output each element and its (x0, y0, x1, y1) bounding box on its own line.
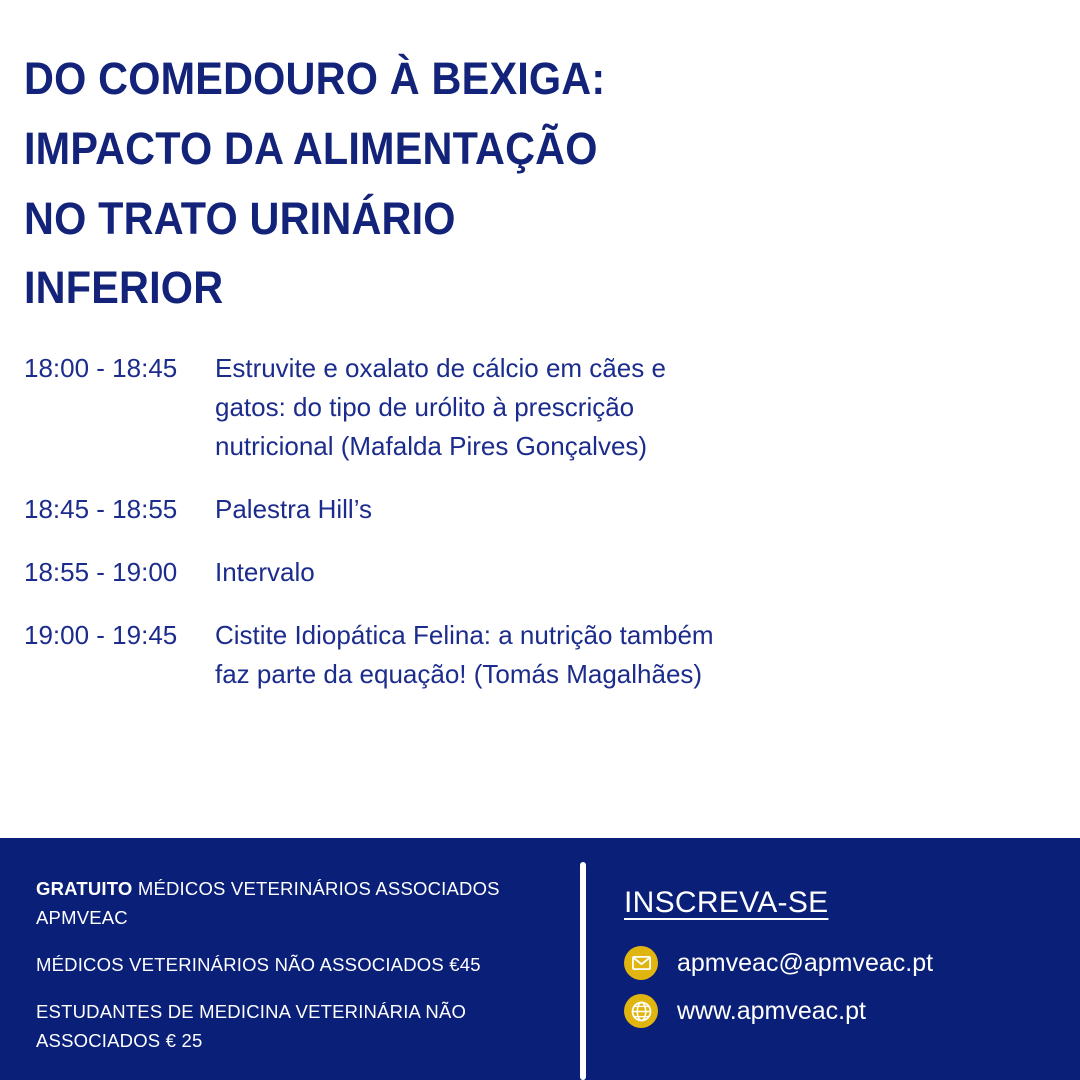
email-address[interactable]: apmveac@apmveac.pt (677, 948, 933, 978)
event-poster: DO COMEDOURO À BEXIGA: IMPACTO DA ALIMEN… (0, 0, 1080, 1080)
schedule-time: 18:55 - 19:00 (24, 553, 215, 592)
pricing-item-nonmember: MÉDICOS VETERINÁRIOS NÃO ASSOCIADOS €45 (36, 950, 523, 979)
schedule-time: 18:45 - 18:55 (24, 490, 215, 529)
schedule-time: 19:00 - 19:45 (24, 616, 215, 655)
signup-heading: INSCREVA-SE (624, 886, 828, 920)
schedule-description: Cistite Idiopática Felina: a nutrição ta… (215, 616, 715, 694)
pricing-item-student: ESTUDANTES DE MEDICINA VETERINÁRIA NÃO A… (36, 997, 523, 1055)
schedule-time: 18:00 - 18:45 (24, 349, 215, 388)
page-title: DO COMEDOURO À BEXIGA: IMPACTO DA ALIMEN… (0, 0, 1080, 323)
schedule-row: 19:00 - 19:45 Cistite Idiopática Felina:… (24, 616, 1080, 694)
pricing-text: MÉDICOS VETERINÁRIOS NÃO ASSOCIADOS €45 (36, 954, 481, 975)
vertical-divider (580, 862, 586, 1080)
schedule-row: 18:45 - 18:55 Palestra Hill’s (24, 490, 1080, 529)
schedule-description: Intervalo (215, 553, 315, 592)
signup-block: INSCREVA-SE apmveac@apmveac.pt (583, 838, 1080, 1080)
schedule-description: Palestra Hill’s (215, 490, 372, 529)
contact-row-website[interactable]: www.apmveac.pt (624, 994, 1080, 1028)
title-line-3: NO TRATO URINÁRIO (24, 184, 959, 254)
footer: GRATUITO MÉDICOS VETERINÁRIOS ASSOCIADOS… (0, 838, 1080, 1080)
title-line-4: INFERIOR (24, 253, 959, 323)
schedule-description: Estruvite e oxalato de cálcio em cães e … (215, 349, 715, 466)
title-line-2: IMPACTO DA ALIMENTAÇÃO (24, 114, 959, 184)
contact-row-email[interactable]: apmveac@apmveac.pt (624, 946, 1080, 980)
schedule-row: 18:55 - 19:00 Intervalo (24, 553, 1080, 592)
website-url[interactable]: www.apmveac.pt (677, 996, 866, 1026)
schedule-list: 18:00 - 18:45 Estruvite e oxalato de cál… (0, 349, 1080, 838)
pricing-text: ESTUDANTES DE MEDICINA VETERINÁRIA NÃO A… (36, 1001, 466, 1051)
envelope-icon (624, 946, 658, 980)
pricing-emphasis: GRATUITO (36, 878, 133, 899)
pricing-item-free: GRATUITO MÉDICOS VETERINÁRIOS ASSOCIADOS… (36, 874, 523, 932)
globe-icon (624, 994, 658, 1028)
pricing-block: GRATUITO MÉDICOS VETERINÁRIOS ASSOCIADOS… (0, 838, 583, 1080)
title-line-1: DO COMEDOURO À BEXIGA: (24, 44, 959, 114)
schedule-row: 18:00 - 18:45 Estruvite e oxalato de cál… (24, 349, 1080, 466)
